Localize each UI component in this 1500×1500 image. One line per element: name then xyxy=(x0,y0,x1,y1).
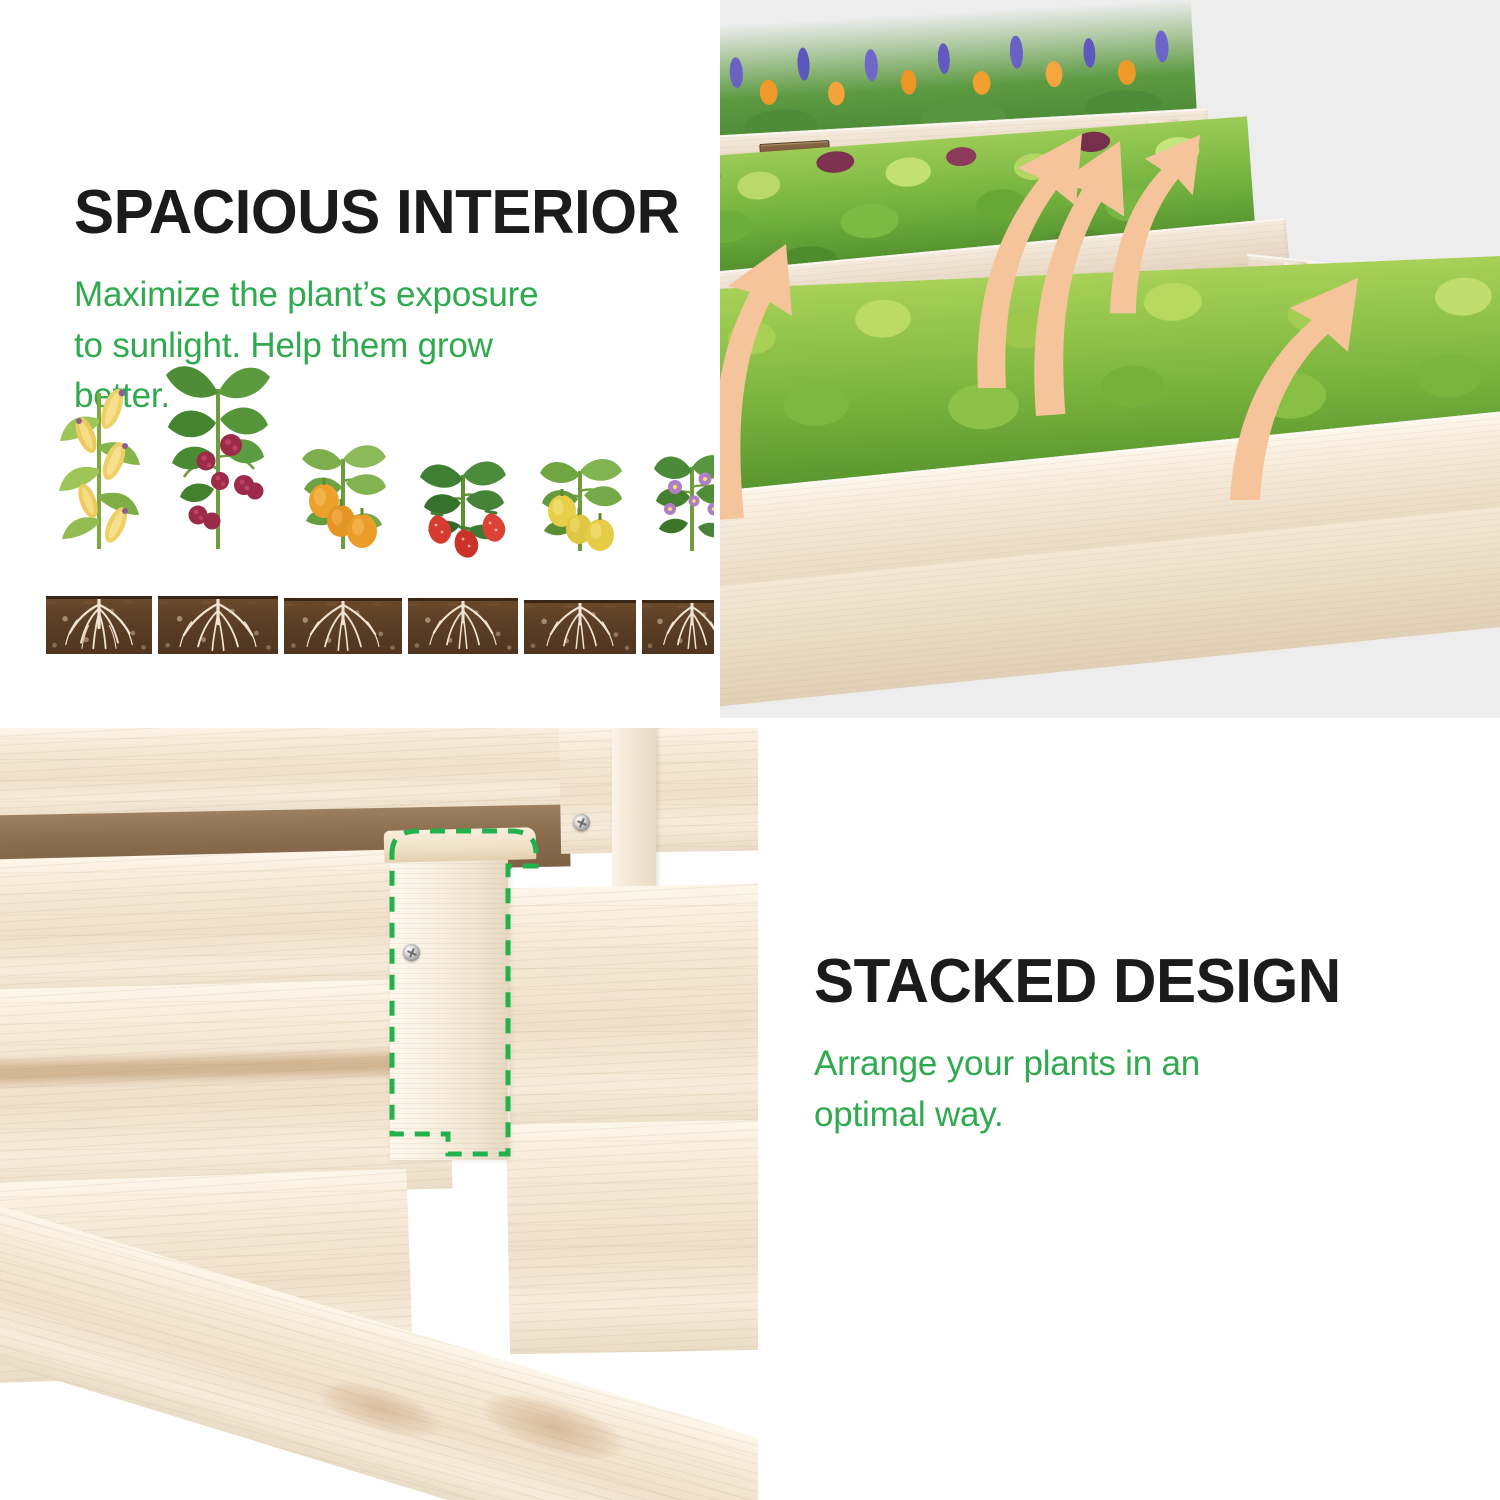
panel-spacious-interior: SPACIOUS INTERIOR Maximize the plant’s e… xyxy=(0,0,714,718)
eggplant-root-system xyxy=(642,603,714,654)
strawberry-fruit xyxy=(429,511,506,558)
raspberry-soil-block xyxy=(158,596,278,654)
screw-post-upper xyxy=(403,944,420,961)
plank-grain-rear-right xyxy=(559,726,758,854)
strawberry-plant-icon xyxy=(408,349,518,599)
strawberry-root-system xyxy=(408,601,518,654)
stacked-design-headline: STACKED DESIGN xyxy=(814,950,1341,1013)
strawberry-soil-block xyxy=(408,598,518,654)
corn-plant-icon xyxy=(46,349,152,599)
orange-pepper-plant xyxy=(284,349,402,654)
plant-illustration-row xyxy=(46,404,696,654)
horizontal-gutter xyxy=(0,718,1500,728)
strawberry-plant xyxy=(408,349,518,654)
raspberry-root-system xyxy=(158,599,278,654)
highlighted-corner-post xyxy=(390,838,508,1160)
corn-plant xyxy=(46,349,152,654)
infographic-page: SPACIOUS INTERIOR Maximize the plant’s e… xyxy=(0,0,1500,1500)
post-rear-vertical xyxy=(612,726,656,910)
plank-grain-front-lower xyxy=(0,978,452,1199)
plank-right-lower xyxy=(506,1120,758,1355)
corn-root-system xyxy=(46,599,152,654)
plank-front-upper xyxy=(0,848,452,999)
yellow-pepper-plant xyxy=(524,351,636,654)
plank-grain-front-upper xyxy=(0,848,452,999)
orange-pepper-plant-icon xyxy=(284,349,402,599)
eggplant-flower-plant-icon xyxy=(642,351,714,601)
orange-pepper-root-system xyxy=(284,601,402,654)
highlighted-post-top-face xyxy=(384,827,537,863)
yellow-pepper-plant-icon xyxy=(524,351,636,601)
raised-bed-scene: VIVOSUN xyxy=(718,0,1500,718)
stacked-design-text-block: STACKED DESIGN Arrange your plants in an… xyxy=(814,950,1357,1140)
yellow-pepper-soil-block xyxy=(524,600,636,654)
raspberry-plant xyxy=(158,349,278,654)
spacious-interior-headline: SPACIOUS INTERIOR xyxy=(74,181,679,244)
eggplant-soil-block xyxy=(642,600,714,654)
eggplant-flower-plant xyxy=(642,351,714,654)
airflow-arrow-5 xyxy=(1230,278,1358,500)
plank-rear-right xyxy=(559,726,758,854)
screw-rear-right xyxy=(573,814,590,831)
yellow-pepper-root-system xyxy=(524,603,636,654)
stacked-design-subcopy: Arrange your plants in an optimal way. xyxy=(814,1039,1284,1140)
orange-pepper-soil-block xyxy=(284,598,402,654)
wood-structure xyxy=(0,726,758,1500)
plank-front-lower xyxy=(0,978,452,1199)
wood-joint-closeup xyxy=(0,726,758,1500)
airflow-arrow-4 xyxy=(1110,135,1200,313)
raspberry-plant-icon xyxy=(158,349,278,599)
vertical-gutter xyxy=(714,0,720,722)
airflow-arrow-group xyxy=(718,0,1500,718)
airflow-arrow-1 xyxy=(718,244,792,520)
corn-soil-block xyxy=(46,596,152,654)
garden-bed-photo: VIVOSUN xyxy=(718,0,1500,718)
plank-grain-right-lower xyxy=(506,1120,758,1355)
plank-right-large xyxy=(506,884,758,1138)
plank-grain-right-large xyxy=(506,884,758,1138)
